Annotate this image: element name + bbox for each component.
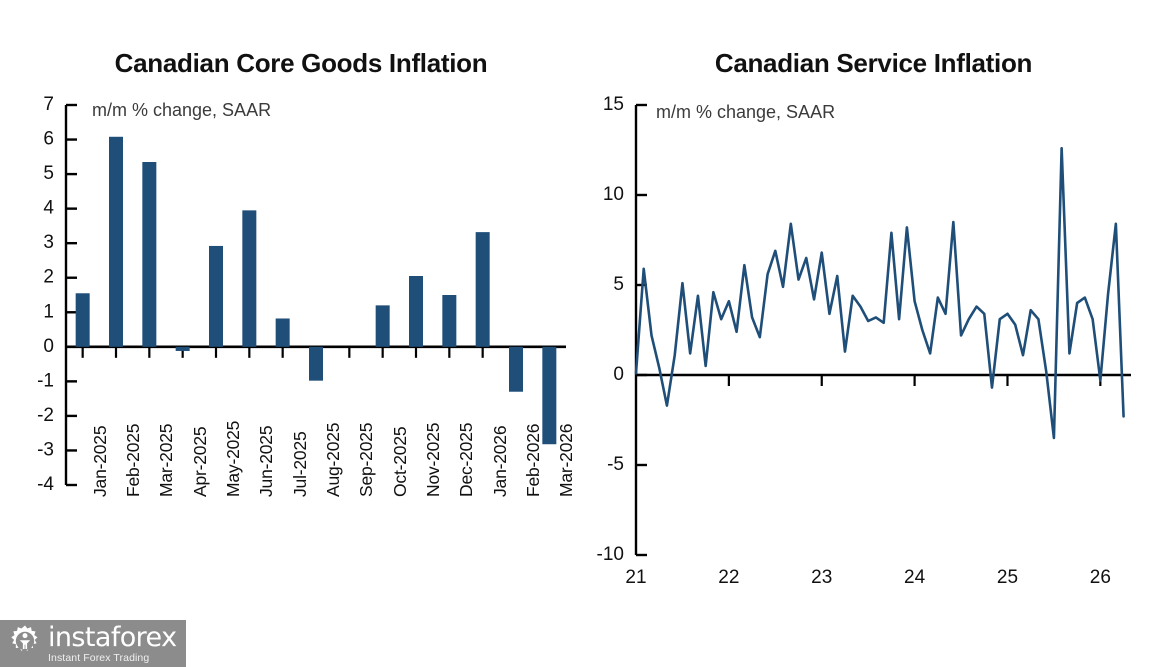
y-tick-label: 7	[43, 94, 54, 115]
y-tick-label: 1	[43, 301, 54, 322]
y-tick-label: 10	[603, 184, 624, 205]
instaforex-gear-person-logo	[8, 624, 42, 663]
x-tick-label: Feb-2025	[123, 424, 144, 497]
bar	[76, 293, 90, 347]
bar	[176, 347, 190, 351]
y-tick-label: 3	[43, 232, 54, 253]
y-tick-label: -5	[607, 454, 624, 475]
y-tick-label: -2	[37, 405, 54, 426]
x-tick-label: Jun-2025	[256, 426, 277, 497]
bar	[276, 318, 290, 346]
plot-area-service: 151050-5-10	[578, 0, 1153, 620]
bar	[476, 232, 490, 347]
y-tick-label: 5	[613, 274, 624, 295]
y-tick-label: 0	[613, 364, 624, 385]
bar	[142, 162, 156, 347]
chart-panel-core-goods: Canadian Core Goods Inflation m/m % chan…	[0, 0, 578, 620]
bar	[376, 305, 390, 346]
bar	[442, 295, 456, 347]
y-tick-label: -1	[37, 370, 54, 391]
plot-area-core-goods: 76543210-1-2-3-4	[0, 0, 578, 620]
bar	[209, 246, 223, 347]
x-tick-label: Aug-2025	[323, 423, 344, 497]
x-tick-label: Feb-2026	[523, 424, 544, 497]
x-tick-label: Oct-2025	[390, 427, 411, 497]
x-tick-label: Mar-2026	[556, 424, 577, 497]
chart-panel-service: Canadian Service Inflation m/m % change,…	[578, 0, 1153, 620]
y-tick-label: 4	[43, 198, 54, 219]
x-tick-label: 26	[1080, 567, 1120, 589]
x-tick-label: 25	[987, 567, 1027, 589]
bar	[409, 276, 423, 347]
y-tick-label: 2	[43, 267, 54, 288]
bar	[309, 347, 323, 381]
figure-root: Canadian Core Goods Inflation m/m % chan…	[0, 0, 1153, 667]
x-tick-label: Jan-2025	[90, 426, 111, 497]
logo-wordmark: instaforex	[48, 624, 176, 651]
bar	[242, 210, 256, 346]
x-tick-label: 22	[709, 567, 749, 589]
y-tick-label: 15	[603, 94, 624, 115]
x-tick-label: Apr-2025	[190, 427, 211, 497]
x-tick-label: 21	[616, 567, 656, 589]
x-tick-label: Dec-2025	[456, 423, 477, 497]
logo-text-block: instaforex Instant Forex Trading	[48, 624, 176, 664]
y-tick-label: 0	[43, 336, 54, 357]
x-tick-label: 24	[895, 567, 935, 589]
bar	[109, 137, 123, 347]
x-tick-label: May-2025	[223, 421, 244, 497]
y-tick-label: -4	[37, 474, 54, 495]
x-tick-label: 23	[802, 567, 842, 589]
y-tick-label: 5	[43, 163, 54, 184]
x-tick-label: Sep-2025	[356, 423, 377, 497]
y-tick-label: 6	[43, 129, 54, 150]
bar	[542, 347, 556, 444]
x-tick-label: Jan-2026	[490, 426, 511, 497]
line-series	[636, 148, 1124, 438]
bar	[509, 347, 523, 392]
logo-tagline: Instant Forex Trading	[48, 653, 176, 664]
x-tick-label: Nov-2025	[423, 423, 444, 497]
x-tick-label: Jul-2025	[290, 431, 311, 497]
y-tick-label: -10	[597, 544, 624, 565]
instaforex-logo: instaforex Instant Forex Trading	[0, 620, 186, 667]
x-tick-label: Mar-2025	[156, 424, 177, 497]
y-tick-label: -3	[37, 439, 54, 460]
